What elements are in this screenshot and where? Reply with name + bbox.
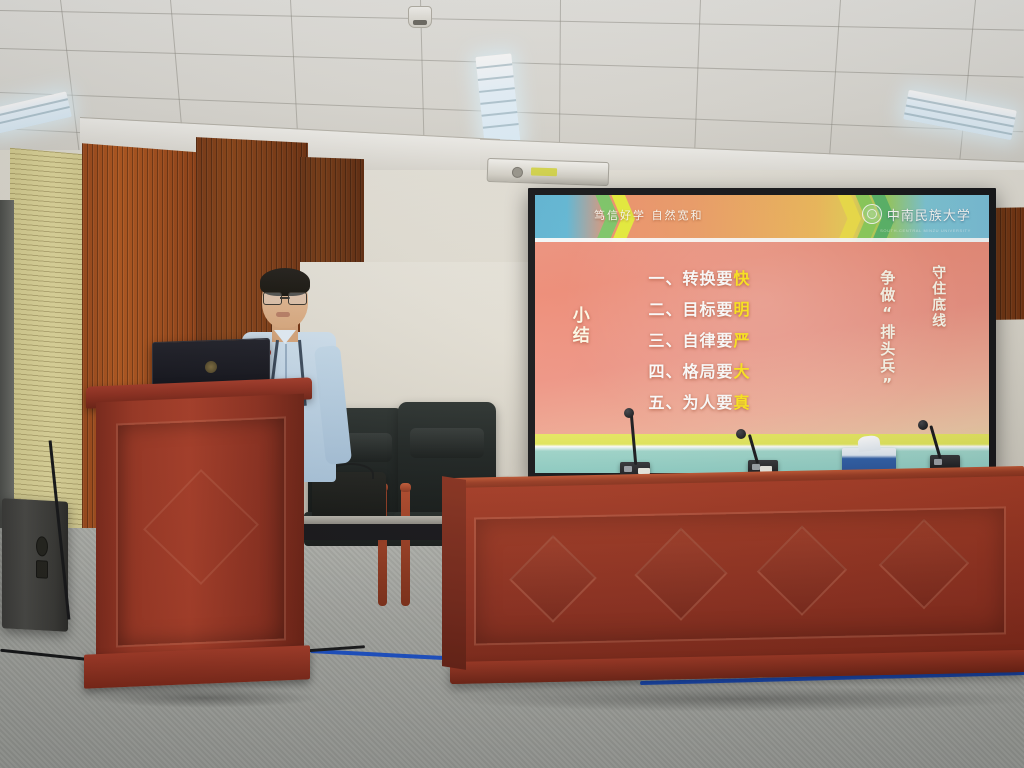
university-seal-icon [862,204,882,224]
eyeglasses-icon [263,292,307,303]
list-item: 二、目标要明 [649,296,751,320]
speaker-port [36,560,48,579]
ceiling-grid-line [0,10,1024,31]
slide-header-band: 笃信好学 自然宽和 中南民族大学 SOUTH-CENTRAL MINZU UNI… [535,195,989,242]
slide-section-title: 小结 [567,306,592,346]
desk-microphone-capsule [736,429,746,439]
slide-bullet-list: 一、转换要快 二、目标要明 三、自律要严 四、格局要大 五、为人要真 [649,265,751,413]
door-edge [0,200,14,540]
eyeglass-lens [263,292,282,305]
desk-microphone-capsule [624,408,634,418]
list-item: 五、为人要真 [649,389,751,413]
ceiling-light-panel [475,53,520,146]
laptop-logo-icon [205,361,217,373]
projector-screen-housing [487,158,610,186]
university-name: 中南民族大学 [887,205,971,224]
eyeglass-lens [288,292,307,305]
ceiling-light-panel [903,90,1017,140]
ceiling-light-panel [0,91,72,134]
screen-brand-badge [531,167,557,176]
slide-vertical-slogan-left: 争做“排头兵” [877,270,898,395]
podium-shadow [90,688,320,708]
table-side-panel [442,476,466,670]
table-shadow [440,686,1024,712]
header-underline [535,238,989,242]
projection-screen-frame: 笃信好学 自然宽和 中南民族大学 SOUTH-CENTRAL MINZU UNI… [528,188,996,480]
wood-paneling-upper [300,157,364,279]
screen-roller-knob [512,166,523,177]
slide-vertical-slogan-right: 守住底线 [928,265,948,329]
slide-motto: 笃信好学 自然宽和 [594,207,704,223]
university-logo: 中南民族大学 [862,204,971,224]
podium-body [96,394,304,671]
presenter-mouth [276,312,290,317]
lecture-hall-photo: 笃信好学 自然宽和 中南民族大学 SOUTH-CENTRAL MINZU UNI… [0,0,1024,768]
university-subline: SOUTH-CENTRAL MINZU UNIVERSITY [880,228,971,233]
list-item: 一、转换要快 [649,265,751,289]
list-item: 四、格局要大 [649,358,751,382]
speaker-port [36,536,48,557]
presentation-slide: 笃信好学 自然宽和 中南民族大学 SOUTH-CENTRAL MINZU UNI… [535,195,989,473]
chevron-decoration [835,195,861,242]
desk-microphone-capsule [918,420,928,430]
chair-armrest [401,488,410,606]
list-item: 三、自律要严 [649,327,751,351]
smoke-detector-icon [408,6,432,28]
